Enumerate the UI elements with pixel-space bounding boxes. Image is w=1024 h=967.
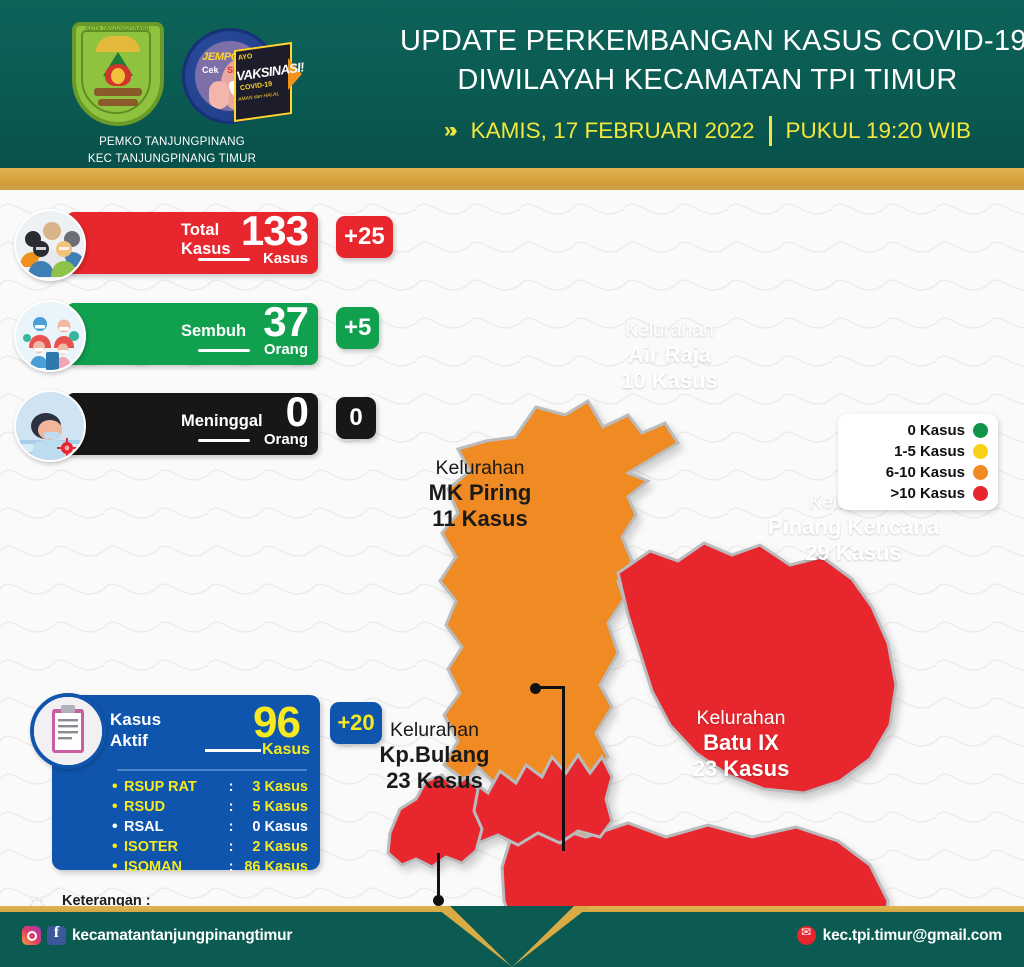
stat-label: Total Kasus [181, 221, 231, 259]
legend-item: >10 Kasus [848, 483, 988, 504]
active-cases-label: Kasus Aktif [110, 709, 161, 751]
mk-piring-leader-line-h [535, 686, 565, 689]
breakdown-row: • ISOMAN : 86 Kasus [112, 857, 312, 877]
legend-swatch-red [973, 486, 988, 501]
stat-card-meninggal: Meninggal 0 Orang [14, 393, 414, 459]
tanjungpinang-crest-icon: KOTA TANJUNGPINANG [72, 22, 164, 126]
legend-swatch-yellow [973, 444, 988, 459]
active-cases-breakdown-list: • RSUP RAT : 3 Kasus • RSUD : 5 Kasus • … [112, 777, 312, 877]
stat-card-total-kasus: Total Kasus 133 Kasus [14, 212, 414, 278]
legend-item: 1-5 Kasus [848, 441, 988, 462]
breakdown-name: RSUP RAT [124, 777, 220, 797]
legend-swatch-green [973, 423, 988, 438]
map-legend: 0 Kasus 1-5 Kasus 6-10 Kasus >10 Kasus [838, 414, 998, 510]
bullet-icon: • [112, 797, 124, 817]
infographic-page: KOTA TANJUNGPINANG JEMPOL Cek SITI [0, 0, 1024, 967]
breakdown-row: • ISOTER : 2 Kasus [112, 837, 312, 857]
report-time: PUKUL 19:20 WIB [786, 118, 972, 144]
recovered-family-icon [14, 300, 86, 372]
footer-email[interactable]: kec.tpi.timur@gmail.com [797, 926, 1002, 945]
breakdown-colon: : [220, 817, 242, 837]
legend-label: 6-10 Kasus [886, 464, 965, 481]
logo-block: KOTA TANJUNGPINANG JEMPOL Cek SITI [22, 14, 322, 159]
clipboard-icon [30, 693, 106, 769]
header-banner: KOTA TANJUNGPINANG JEMPOL Cek SITI [0, 0, 1024, 168]
stat-value: 0 [286, 389, 308, 435]
legend-label: >10 Kasus [890, 485, 965, 502]
chevrons-icon: »› [444, 119, 453, 143]
breakdown-name: RSAL [124, 817, 220, 837]
region-pinang-kencana [618, 543, 896, 793]
stat-bar: Total Kasus 133 Kasus [66, 212, 318, 274]
legend-item: 6-10 Kasus [848, 462, 988, 483]
stat-unit: Orang [264, 431, 308, 448]
active-cases-unit: Kasus [262, 741, 310, 759]
breakdown-colon: : [220, 777, 242, 797]
bullet-icon: • [112, 857, 124, 877]
people-group-icon [14, 209, 86, 281]
legend-label: 0 Kasus [907, 422, 965, 439]
breakdown-name: ISOTER [124, 837, 220, 857]
stat-label: Meninggal [181, 412, 263, 431]
breakdown-value: 3 Kasus [242, 777, 312, 797]
stat-card-sembuh: Sembuh 37 Orang [14, 303, 414, 369]
social-handle[interactable]: kecamatantanjungpinangtimur [72, 927, 292, 945]
report-date: KAMIS, 17 FEBRUARI 2022 [471, 118, 755, 144]
kp-bulang-leader-line-v [437, 853, 440, 900]
stat-rule [198, 349, 250, 352]
vaccination-campaign-badge-icon: JEMPOL Cek SITI AYO VAKSINASI! COVID-19 … [182, 28, 290, 124]
breakdown-value: 86 Kasus [242, 857, 312, 877]
stat-rule [198, 439, 250, 442]
legend-item: 0 Kasus [848, 420, 988, 441]
stat-bar: Sembuh 37 Orang [66, 303, 318, 365]
stat-unit: Orang [264, 341, 308, 358]
bullet-icon: • [112, 777, 124, 797]
stat-rule [198, 258, 250, 261]
title-line-2: DIWILAYAH KECAMATAN TPI TIMUR [400, 61, 1015, 100]
breakdown-name: RSUD [124, 797, 220, 817]
panel-divider [117, 769, 307, 771]
breakdown-value: 0 Kasus [242, 817, 312, 837]
page-title: UPDATE PERKEMBANGAN KASUS COVID-19 DIWIL… [400, 22, 1015, 100]
divider [769, 116, 772, 146]
instagram-icon[interactable] [22, 926, 41, 945]
mk-piring-leader-line-v [562, 686, 565, 851]
stat-value: 133 [241, 208, 308, 254]
stat-delta-badge: +5 [336, 307, 379, 349]
stat-value: 37 [263, 299, 308, 345]
title-line-1: UPDATE PERKEMBANGAN KASUS COVID-19 [400, 22, 1015, 61]
breakdown-row: • RSAL : 0 Kasus [112, 817, 312, 837]
organization-caption: PEMKO TANJUNGPINANG KEC TANJUNGPINANG TI… [22, 134, 322, 168]
breakdown-row: • RSUP RAT : 3 Kasus [112, 777, 312, 797]
email-icon[interactable] [797, 926, 816, 945]
bullet-icon: • [112, 837, 124, 857]
footer-social[interactable]: kecamatantanjungpinangtimur [22, 926, 292, 945]
breakdown-colon: : [220, 797, 242, 817]
breakdown-colon: : [220, 857, 242, 877]
bullet-icon: • [112, 817, 124, 837]
breakdown-colon: : [220, 837, 242, 857]
breakdown-row: • RSUD : 5 Kasus [112, 797, 312, 817]
vax-cek-text: Cek [202, 65, 219, 75]
breakdown-name: ISOMAN [124, 857, 220, 877]
main-content: Total Kasus 133 Kasus [0, 190, 1024, 912]
active-cases-rule [205, 749, 261, 752]
email-address[interactable]: kec.tpi.timur@gmail.com [823, 927, 1002, 945]
kp-bulang-leader-dot [433, 895, 444, 906]
stat-delta-badge: +25 [336, 216, 393, 258]
breakdown-value: 2 Kasus [242, 837, 312, 857]
gold-divider [0, 168, 1024, 190]
stat-label: Sembuh [181, 322, 246, 341]
legend-label: 1-5 Kasus [894, 443, 965, 460]
legend-swatch-orange [973, 465, 988, 480]
stat-bar: Meninggal 0 Orang [66, 393, 318, 455]
region-kp-bulang [388, 775, 482, 867]
org-line-2: KEC TANJUNGPINANG TIMUR [22, 151, 322, 168]
facebook-icon[interactable] [47, 926, 66, 945]
datetime-row: »› KAMIS, 17 FEBRUARI 2022 PUKUL 19:20 W… [400, 116, 1015, 146]
breakdown-value: 5 Kasus [242, 797, 312, 817]
patient-bed-icon [14, 390, 86, 462]
crest-ring-text: KOTA TANJUNGPINANG [86, 26, 150, 32]
stat-unit: Kasus [263, 250, 308, 267]
org-line-1: PEMKO TANJUNGPINANG [22, 134, 322, 151]
footer-triangle-inner [450, 906, 574, 967]
